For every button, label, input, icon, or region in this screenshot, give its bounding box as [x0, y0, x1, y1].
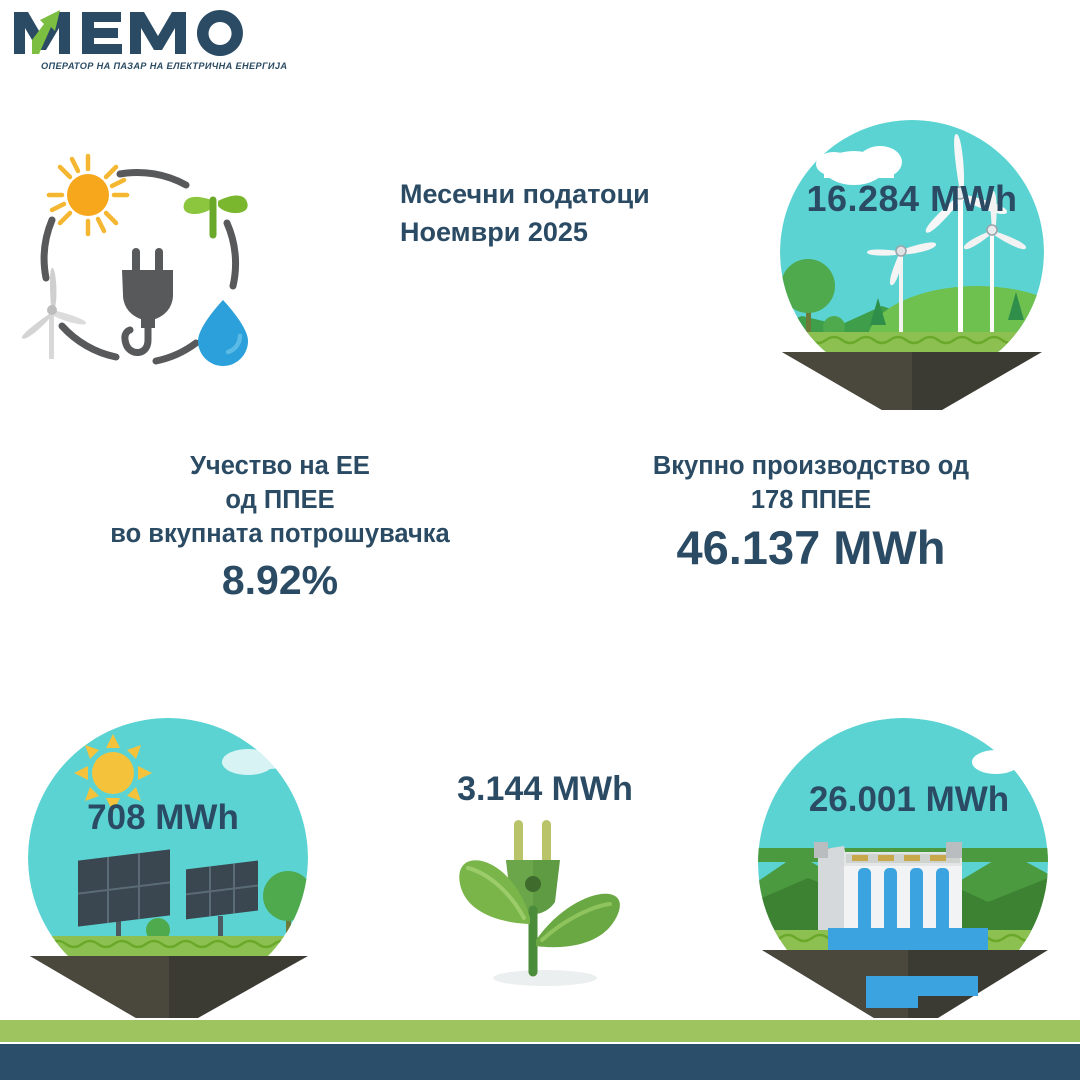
eco-energy-cycle-icon — [8, 138, 280, 382]
power-plug-icon — [122, 248, 173, 353]
biogas-value: 3.144 MWh — [410, 770, 680, 809]
hydro-value: 26.001 MWh — [748, 780, 1070, 820]
logo-letter-e-shape — [82, 12, 122, 54]
share-line1: Учество на ЕЕ — [20, 450, 540, 484]
page-title-line1: Месечни податоци — [400, 175, 820, 213]
hydro-dam-illustration — [748, 718, 1070, 1010]
water-drop-icon — [198, 300, 248, 366]
total-line1: Вкупно производство од — [556, 450, 1066, 484]
wind-farm-illustration — [762, 120, 1062, 388]
share-stat-block: Учество на ЕЕ од ППЕЕ во вкупната потрош… — [20, 450, 540, 604]
sun-icon — [49, 156, 127, 234]
sprout-icon — [184, 196, 248, 235]
share-value: 8.92% — [20, 558, 540, 604]
page-title-line2: Ноември 2025 — [400, 213, 820, 251]
infographic-page: ОПЕРАТОР НА ПАЗАР НА ЕЛЕКТРИЧНА ЕНЕРГИЈА… — [0, 0, 1080, 1080]
total-production-stat-block: Вкупно производство од 178 ППЕЕ 46.137 M… — [556, 450, 1066, 574]
dam-structure — [814, 842, 962, 932]
logo-letter-o-shape — [197, 10, 243, 56]
page-title: Месечни податоци Ноември 2025 — [400, 175, 820, 252]
total-line2: 178 ППЕЕ — [556, 484, 1066, 518]
wind-value: 16.284 MWh — [762, 178, 1062, 220]
logo-letter-m2-shape — [130, 12, 186, 54]
logo-tagline: ОПЕРАТОР НА ПАЗАР НА ЕЛЕКТРИЧНА ЕНЕРГИЈА — [41, 61, 256, 71]
memo-logo-mark — [8, 4, 258, 60]
plug-screw — [525, 876, 541, 892]
footer-navy-bar — [0, 1044, 1080, 1080]
total-value: 46.137 MWh — [556, 522, 1066, 575]
plug-prong-left — [514, 820, 523, 864]
footer-green-bar — [0, 1020, 1080, 1042]
share-line2: од ППЕЕ — [20, 484, 540, 518]
wind-turbine-icon — [22, 268, 86, 359]
memo-logo: ОПЕРАТОР НА ПАЗАР НА ЕЛЕКТРИЧНА ЕНЕРГИЈА — [8, 4, 258, 84]
soil-highlight — [30, 956, 169, 1018]
shadow-ellipse — [493, 970, 597, 986]
plug-prong-right — [542, 820, 551, 864]
solar-panel-illustration — [18, 718, 330, 1000]
share-line3: во вкупната потрошувачка — [20, 518, 540, 552]
solar-value: 708 MWh — [18, 798, 308, 838]
soil-highlight — [782, 352, 912, 410]
green-plug-leaf-illustration — [438, 806, 652, 990]
